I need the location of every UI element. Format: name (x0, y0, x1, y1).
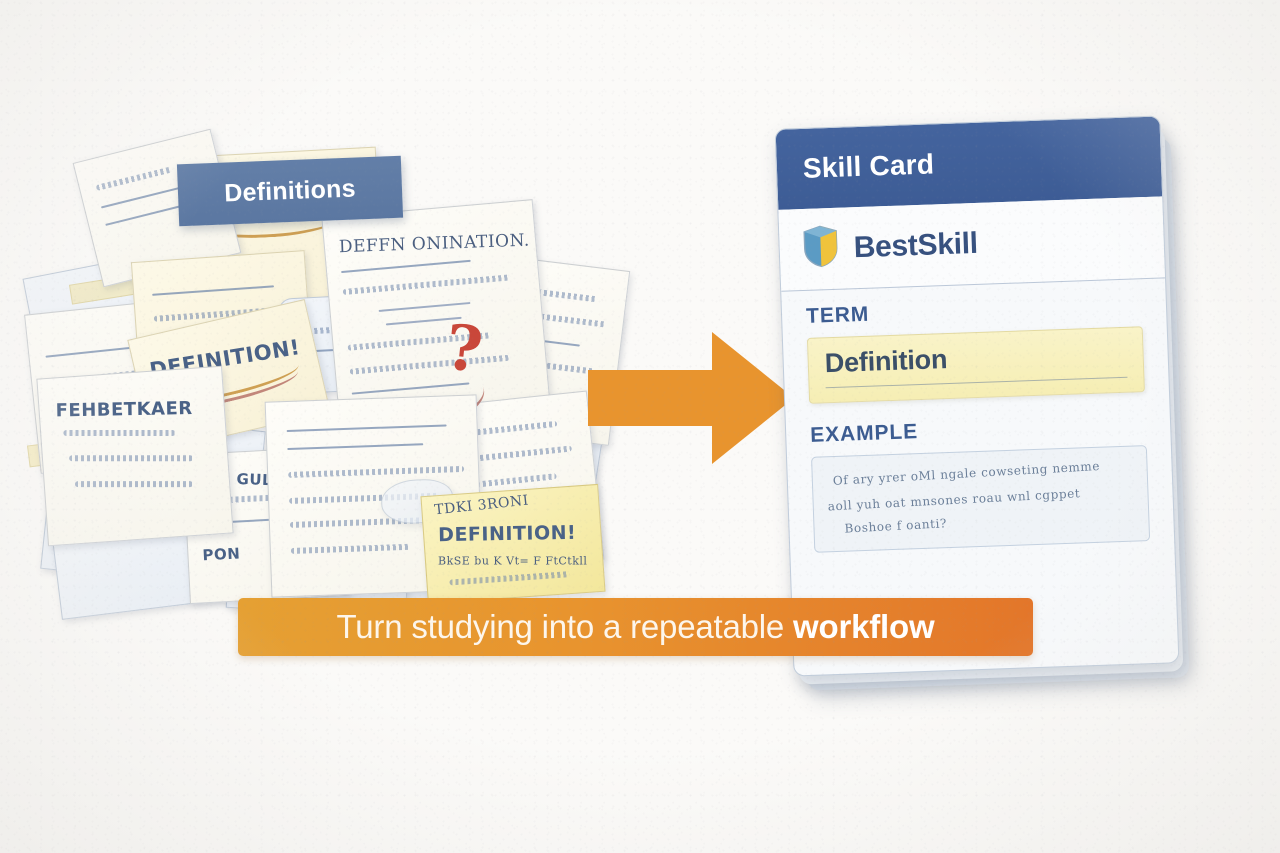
brand-row: BestSkill (778, 196, 1165, 291)
note-pon-text: PON (202, 544, 241, 564)
poster-canvas: DEFINITION! DEFFN ONINATION. (0, 0, 1280, 853)
note-deffn-onination: DEFFN ONINATION. (321, 199, 550, 425)
question-mark: ? (442, 310, 486, 386)
term-label: TERM (806, 293, 1143, 329)
note-yellow-scrawl-top-text: TDKI 3RONI (434, 493, 530, 519)
example-label: EXAMPLE (810, 412, 1147, 448)
note-yellow-definition: TDKI 3RONI DEFINITION! BkSE bu K Vt= F F… (420, 484, 605, 604)
shield-icon (801, 224, 841, 274)
term-value: Definition (824, 338, 1127, 380)
caption-text-bold: workflow (793, 608, 934, 645)
note-fehbetkaer: FEHBETKAER (36, 366, 233, 547)
caption-text: Turn studying into a repeatable workflow (337, 608, 935, 646)
definitions-tab-label: Definitions (224, 174, 356, 208)
skill-card[interactable]: Skill Card BestSkill TERM Definition (775, 115, 1180, 676)
caption-text-normal: Turn studying into a repeatable (337, 608, 794, 645)
note-fehbetkaer-text: FEHBETKAER (55, 398, 192, 421)
caption-banner: Turn studying into a repeatable workflow (238, 598, 1033, 656)
note-yellow-scrawl-bottom-text: BkSE bu K Vt= F FtCtkll (438, 554, 587, 567)
example-line-3: Boshoe f oanti? (844, 516, 947, 535)
example-field: EXAMPLE Of ary yrer oMl ngale cowseting … (785, 391, 1174, 553)
term-field: TERM Definition (781, 278, 1169, 404)
right-arrow-icon (588, 322, 798, 474)
brand-name: BestSkill (853, 226, 978, 264)
note-yellow-definition-text: DEFINITION! (438, 522, 576, 546)
example-line-1: Of ary yrer oMl ngale cowseting nemme (833, 459, 1101, 488)
example-input[interactable]: Of ary yrer oMl ngale cowseting nemme ao… (811, 445, 1150, 553)
term-underline (826, 377, 1128, 389)
example-line-2: aoll yuh oat mnsones roau wnl cgppet (827, 486, 1080, 513)
skill-card-header: Skill Card (776, 116, 1163, 209)
definitions-tab: Definitions (177, 156, 403, 227)
term-input[interactable]: Definition (807, 326, 1145, 404)
note-deffn-onination-text: DEFFN ONINATION. (339, 231, 530, 258)
skill-card-title: Skill Card (802, 148, 934, 185)
